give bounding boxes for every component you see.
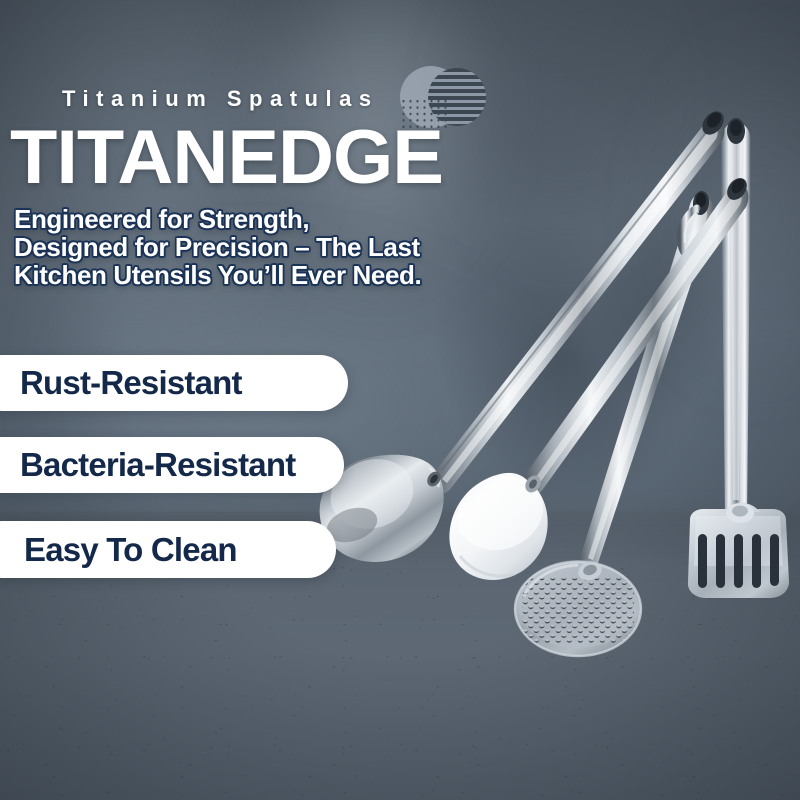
product-ad-banner: Titanium Spatulas TITANEDGE Engineered f… [0, 0, 800, 800]
utensil-slotted-spatula-head [688, 503, 789, 598]
feature-pill-bacteria-resistant: Bacteria-Resistant [0, 437, 344, 493]
tagline-line-1: Engineered for Strength, [14, 206, 484, 234]
utensil-turner-head [446, 464, 553, 580]
kicker-text: Titanium Spatulas [62, 86, 379, 112]
tagline-line-3: Kitchen Utensils You’ll Ever Need. [14, 262, 484, 290]
brand-title: TITANEDGE [10, 120, 443, 196]
utensil-skimmer-head [515, 559, 641, 656]
feature-pill-label: Rust-Resistant [20, 364, 242, 402]
feature-pill-rust-resistant: Rust-Resistant [0, 355, 348, 411]
tagline: Engineered for Strength, Designed for Pr… [14, 206, 484, 289]
feature-pill-label: Bacteria-Resistant [20, 446, 295, 484]
feature-pill-label: Easy To Clean [24, 531, 237, 569]
tagline-line-2: Designed for Precision – The Last [14, 234, 484, 262]
feature-pill-easy-to-clean: Easy To Clean [0, 521, 336, 578]
